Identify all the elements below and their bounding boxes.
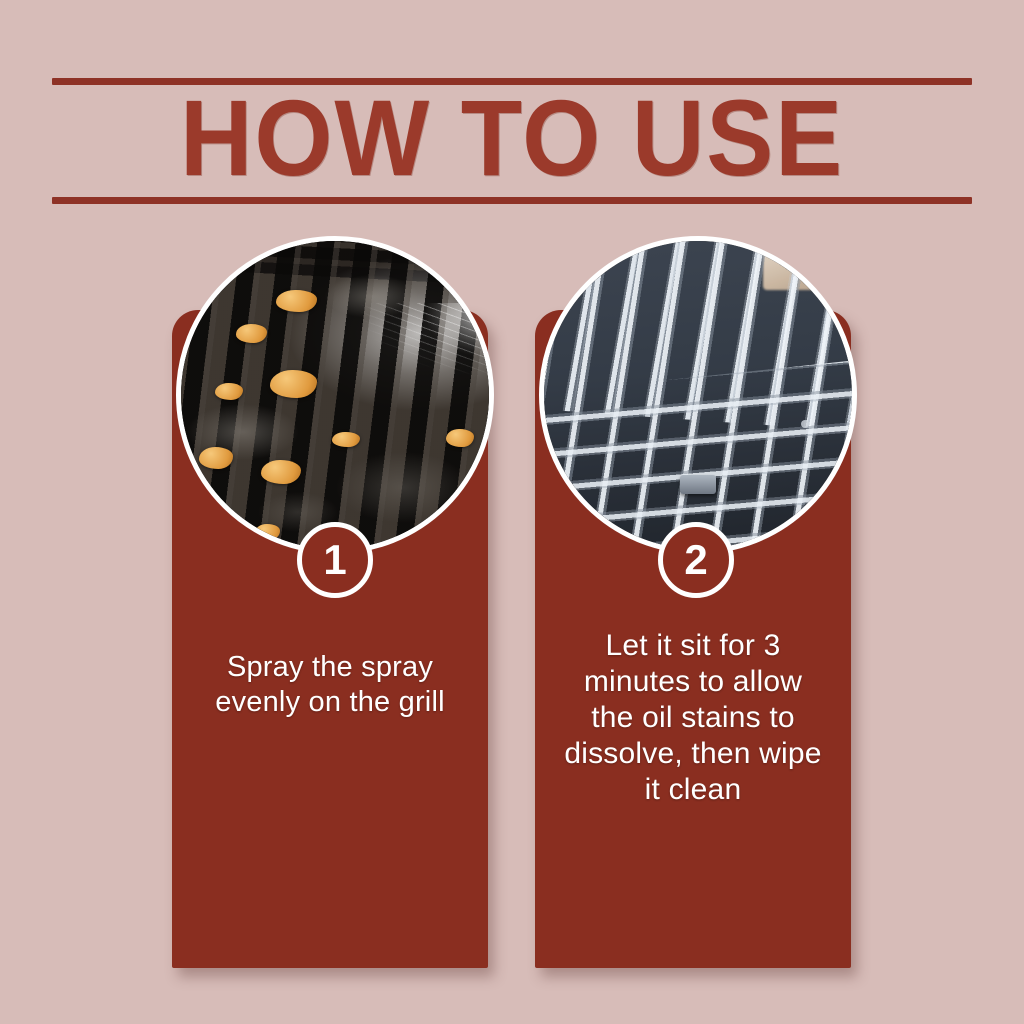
grease-spot-icon: [332, 432, 360, 447]
step-card-1: 1 Spray the spray evenly on the grill: [172, 310, 488, 968]
grease-spot-icon: [270, 370, 316, 398]
step-image-inner-1: [181, 241, 489, 549]
steps-container: 1 Spray the spray evenly on the grill 2 …: [0, 0, 1024, 1024]
step-image-inner-2: [544, 241, 852, 549]
step-card-2: 2 Let it sit for 3 minutes to allow the …: [535, 310, 851, 968]
step-number-badge-1: 1: [297, 522, 373, 598]
grate-screw-icon: [801, 420, 809, 428]
grease-spot-icon: [215, 383, 243, 400]
grease-spot-icon: [255, 524, 280, 539]
step-caption-1: Spray the spray evenly on the grill: [186, 650, 474, 720]
step-image-2: [539, 236, 857, 554]
step-number-badge-2: 2: [658, 522, 734, 598]
grease-spot-icon: [276, 290, 316, 312]
grease-spot-icon: [199, 447, 233, 469]
step-image-1: [176, 236, 494, 554]
grease-spot-icon: [261, 460, 301, 485]
grease-spot-icon: [236, 324, 267, 342]
how-to-use-poster: HOW TO USE: [0, 0, 1024, 1024]
grate-clip-icon: [680, 475, 717, 493]
grease-spot-icon: [446, 429, 474, 447]
step-caption-2: Let it sit for 3 minutes to allow the oi…: [549, 628, 837, 808]
